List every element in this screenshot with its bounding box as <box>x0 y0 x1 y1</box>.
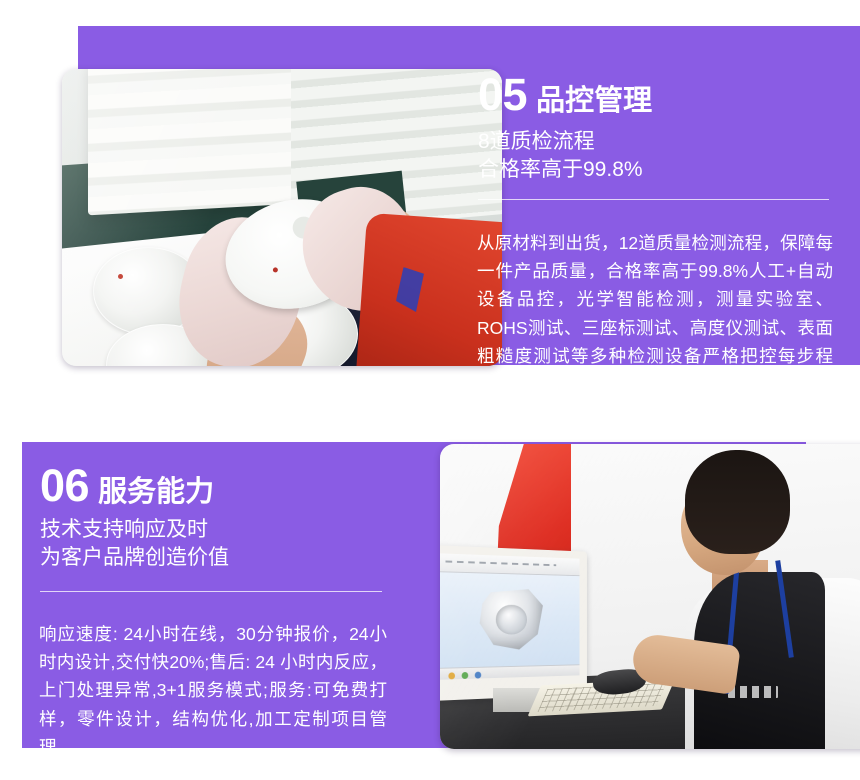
section-card-06: 06 服务能力 技术支持响应及时 为客户品牌创造价值 响应速度: 24小时在线，… <box>0 400 860 780</box>
section-title-06: 服务能力 <box>98 478 214 507</box>
section-subtitle-05: 8道质检流程 合格率高于99.8% <box>478 128 838 184</box>
section-title-05: 品控管理 <box>536 87 652 116</box>
section-number-05: 05 <box>478 72 527 117</box>
section-subtitle-06: 技术支持响应及时 为客户品牌创造价值 <box>40 516 380 572</box>
section-headline-05: 05 品控管理 <box>478 72 652 117</box>
section-headline-06: 06 服务能力 <box>40 463 214 508</box>
promo-page: 05 品控管理 8道质检流程 合格率高于99.8% 从原材料到出货，12道质量检… <box>0 0 860 780</box>
section-number-06: 06 <box>40 463 89 508</box>
photo-glare-overlay <box>62 69 502 366</box>
photo-glare-overlay <box>440 444 860 749</box>
photo-scene-05 <box>62 69 502 366</box>
section-divider-05 <box>478 199 829 200</box>
section-body-05: 从原材料到出货，12道质量检测流程，保障每一件产品质量，合格率高于99.8%人工… <box>477 229 833 399</box>
section-body-06: 响应速度: 24小时在线，30分钟报价，24小时内设计,交付快20%;售后: 2… <box>39 620 387 762</box>
engineer-cad-workstation-photo <box>440 444 860 749</box>
quality-inspection-photo <box>62 69 502 366</box>
photo-scene-06 <box>440 444 860 749</box>
section-card-05: 05 品控管理 8道质检流程 合格率高于99.8% 从原材料到出货，12道质量检… <box>0 0 860 400</box>
section-divider-06 <box>40 591 382 592</box>
